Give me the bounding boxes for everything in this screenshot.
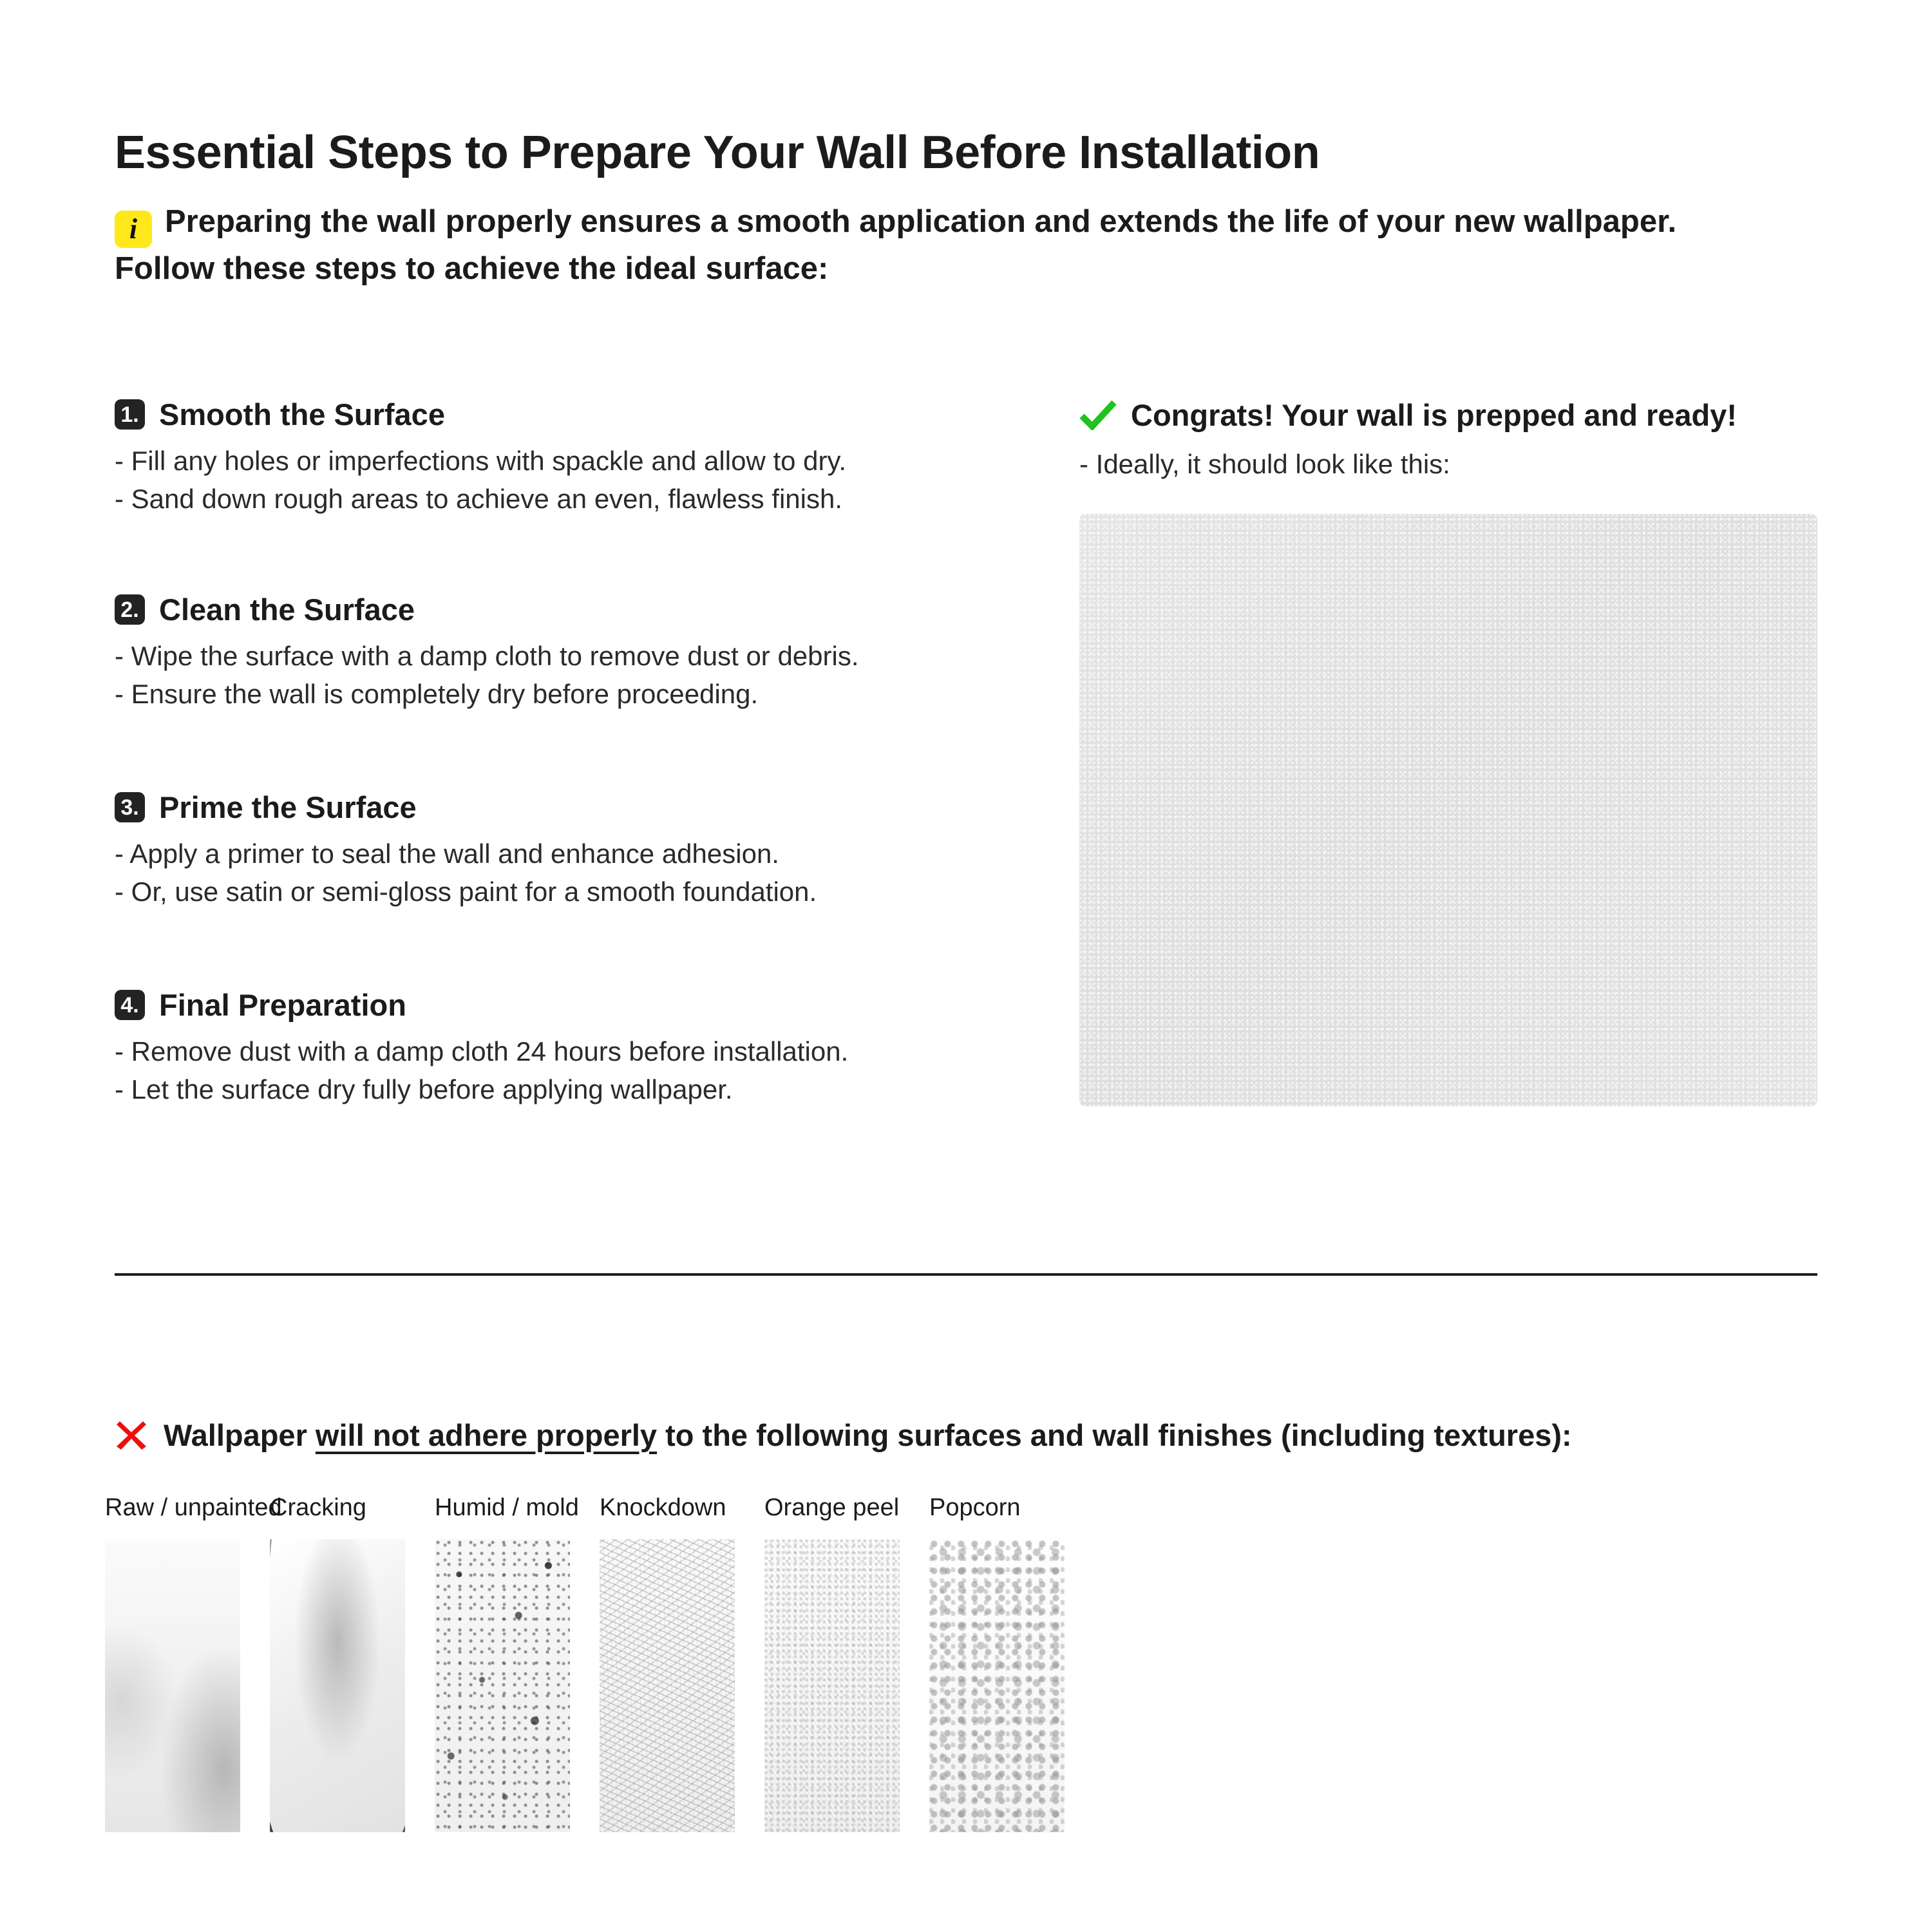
wall-preparation-guide: Essential Steps to Prepare Your Wall Bef… — [0, 0, 1932, 1932]
step-1-bullets: - Fill any holes or imperfections with s… — [115, 442, 846, 518]
warning-text-after: to the following surfaces and wall finis… — [657, 1418, 1572, 1452]
step-1: 1. Smooth the Surface - Fill any holes o… — [115, 399, 846, 518]
intro-paragraph: iPreparing the wall properly ensures a s… — [115, 201, 1821, 290]
texture-raw-unpainted-image — [105, 1539, 240, 1832]
result-subtitle: - Ideally, it should look like this: — [1079, 447, 1817, 482]
warning-text-before: Wallpaper — [164, 1418, 316, 1452]
step-4-title: Final Preparation — [159, 990, 406, 1020]
texture-item-raw-unpainted: Raw / unpainted — [105, 1495, 240, 1832]
bullet: - Fill any holes or imperfections with s… — [115, 442, 846, 480]
step-number-badge: 3. — [115, 792, 145, 822]
bullet: - Ensure the wall is completely dry befo… — [115, 676, 859, 714]
intro-line-1: Preparing the wall properly ensures a sm… — [165, 204, 1676, 239]
texture-item-cracking: Cracking — [270, 1495, 405, 1832]
bullet: - Wipe the surface with a damp cloth to … — [115, 638, 859, 676]
bullet: - Apply a primer to seal the wall and en… — [115, 835, 817, 873]
step-3: 3. Prime the Surface - Apply a primer to… — [115, 792, 817, 911]
warning-text: Wallpaper will not adhere properly to th… — [164, 1420, 1572, 1450]
texture-label: Humid / mold — [435, 1495, 570, 1520]
page-title: Essential Steps to Prepare Your Wall Bef… — [115, 126, 1320, 179]
step-3-bullets: - Apply a primer to seal the wall and en… — [115, 835, 817, 911]
step-4-bullets: - Remove dust with a damp cloth 24 hours… — [115, 1033, 848, 1109]
bullet: - Sand down rough areas to achieve an ev… — [115, 480, 846, 518]
texture-popcorn-image — [929, 1539, 1065, 1832]
prepped-wall-image — [1079, 514, 1817, 1106]
intro-line-2: Follow these steps to achieve the ideal … — [115, 251, 828, 286]
step-number-badge: 4. — [115, 990, 145, 1020]
step-4: 4. Final Preparation - Remove dust with … — [115, 990, 848, 1109]
bullet: - Let the surface dry fully before apply… — [115, 1071, 848, 1109]
texture-item-knockdown: Knockdown — [600, 1495, 735, 1832]
step-1-title: Smooth the Surface — [159, 399, 445, 430]
result-title: Congrats! Your wall is prepped and ready… — [1131, 400, 1737, 430]
section-divider — [115, 1273, 1817, 1276]
step-4-header: 4. Final Preparation — [115, 990, 848, 1020]
texture-swatch-row: Raw / unpainted Cracking Humid / mold Kn… — [105, 1495, 1065, 1832]
info-badge-icon: i — [115, 211, 152, 248]
check-icon — [1079, 399, 1117, 430]
step-number-badge: 1. — [115, 399, 145, 430]
texture-label: Cracking — [270, 1495, 405, 1520]
x-icon — [115, 1418, 148, 1452]
texture-label: Popcorn — [929, 1495, 1065, 1520]
texture-item-orange-peel: Orange peel — [764, 1495, 900, 1832]
step-3-title: Prime the Surface — [159, 792, 417, 822]
warning-header: Wallpaper will not adhere properly to th… — [115, 1418, 1572, 1452]
step-2: 2. Clean the Surface - Wipe the surface … — [115, 594, 859, 714]
bullet: - Remove dust with a damp cloth 24 hours… — [115, 1033, 848, 1071]
result-column: Congrats! Your wall is prepped and ready… — [1079, 399, 1817, 482]
texture-label: Knockdown — [600, 1495, 735, 1520]
step-number-badge: 2. — [115, 594, 145, 625]
texture-label: Raw / unpainted — [105, 1495, 240, 1520]
step-2-title: Clean the Surface — [159, 594, 415, 625]
step-1-header: 1. Smooth the Surface — [115, 399, 846, 430]
bullet: - Or, use satin or semi-gloss paint for … — [115, 873, 817, 911]
texture-knockdown-image — [600, 1539, 735, 1832]
texture-humid-mold-image — [435, 1539, 570, 1832]
step-2-bullets: - Wipe the surface with a damp cloth to … — [115, 638, 859, 714]
texture-item-humid-mold: Humid / mold — [435, 1495, 570, 1832]
warning-text-underlined: will not adhere properly — [316, 1418, 657, 1452]
step-3-header: 3. Prime the Surface — [115, 792, 817, 822]
texture-label: Orange peel — [764, 1495, 900, 1520]
result-header: Congrats! Your wall is prepped and ready… — [1079, 399, 1817, 430]
step-2-header: 2. Clean the Surface — [115, 594, 859, 625]
texture-orange-peel-image — [764, 1539, 900, 1832]
texture-cracking-image — [270, 1539, 405, 1832]
texture-item-popcorn: Popcorn — [929, 1495, 1065, 1832]
